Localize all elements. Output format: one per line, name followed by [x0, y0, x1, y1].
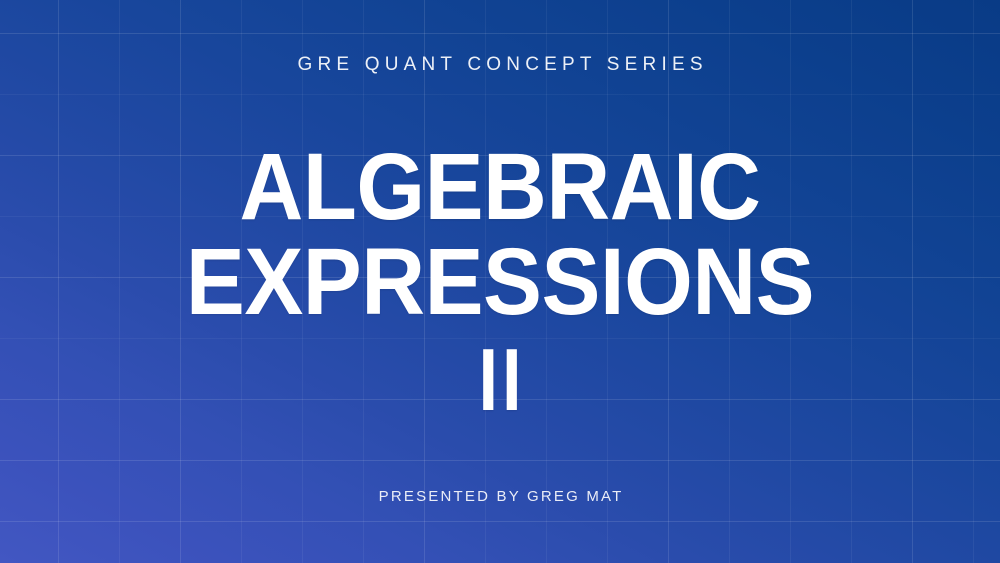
slide-content: GRE QUANT CONCEPT SERIES ALGEBRAIC EXPRE…	[0, 0, 1000, 563]
slide-title: ALGEBRAIC EXPRESSIONS II	[0, 141, 1000, 423]
title-slide: GRE QUANT CONCEPT SERIES ALGEBRAIC EXPRE…	[0, 0, 1000, 563]
title-line-two: EXPRESSIONS	[35, 236, 965, 329]
presenter-credit: PRESENTED BY GREG MAT	[0, 488, 1000, 505]
title-line-one: ALGEBRAIC	[35, 141, 965, 234]
series-kicker: GRE QUANT CONCEPT SERIES	[0, 55, 1000, 76]
title-part-number: II	[100, 337, 900, 423]
